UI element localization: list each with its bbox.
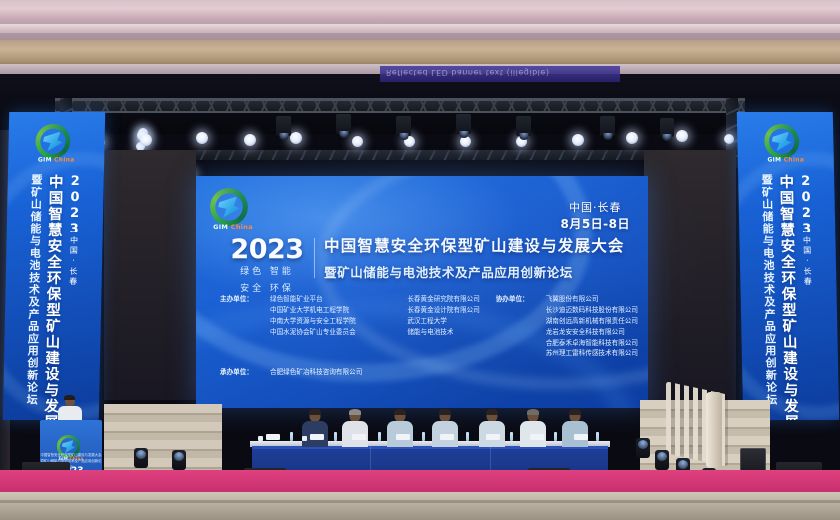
screen-year-block: 2023 绿色 智能 安全 环保 <box>226 236 308 296</box>
water-bottle <box>378 432 381 441</box>
side-banner-right: GIM China 2023 中国·长春 中国智慧安全环保型矿山建设与发展大会 … <box>737 112 839 420</box>
stage-side-wall-left <box>104 150 196 400</box>
water-bottle <box>554 432 557 441</box>
organizer-label: 主办单位： <box>220 294 270 359</box>
screen-organizer-block: 主办单位： 绿色智能矿业平台 中国矿业大学机电工程学院 中南大学资源与安全工程学… <box>220 294 638 378</box>
gim-logo-main: GIM <box>213 223 228 231</box>
organizer-columns: 主办单位： 绿色智能矿业平台 中国矿业大学机电工程学院 中南大学资源与安全工程学… <box>220 294 638 359</box>
moving-head-light <box>600 116 615 136</box>
panel-member <box>518 410 548 448</box>
stage-lamp <box>572 134 584 146</box>
lighting-truss-main <box>55 98 745 113</box>
floor-moving-head-light <box>172 450 186 470</box>
water-bottle <box>466 432 469 441</box>
table-cup <box>258 436 263 441</box>
banner-location-right: 中国·长春 <box>801 236 813 287</box>
table-nameplate <box>440 434 454 440</box>
co-organizer-list: 飞翼股份有限公司 长沙迪迈数码科技股份有限公司 湖南创远高新机械有限责任公司 龙… <box>546 294 638 359</box>
floor-moving-head-light <box>636 438 650 458</box>
stage-side-wall-right <box>644 150 736 400</box>
organizer-item: 中南大学资源与安全工程学院 <box>270 316 356 327</box>
panel-member-hair <box>569 409 581 415</box>
panel-member <box>430 410 460 448</box>
organizer-item: 长春黄金研究院有限公司 <box>407 294 495 305</box>
banner-year-right: 2023 <box>798 174 814 232</box>
main-led-screen: GIM China 中国·长春 8月5日-8日 2023 绿色 智能 安全 环保… <box>196 176 648 408</box>
gim-logo-icon: GIM China <box>35 124 78 166</box>
gim-logo-sub: China <box>231 223 253 231</box>
stage-lamp <box>140 134 152 146</box>
panel-member <box>477 410 507 448</box>
screen-location: 中国·长春 <box>560 200 630 216</box>
stage-lamp <box>244 134 256 146</box>
organizer-group: 主办单位： 绿色智能矿业平台 中国矿业大学机电工程学院 中南大学资源与安全工程学… <box>220 294 407 359</box>
gim-logo-text: GIM China <box>35 156 77 163</box>
table-nameplate <box>396 434 410 440</box>
co-organizer-item: 湖南创远高新机械有限责任公司 <box>546 316 638 327</box>
stage-lamp <box>290 132 302 144</box>
organizer-item: 储能与电池技术 <box>407 327 495 338</box>
stage-lamp <box>196 132 208 144</box>
organizer-list-col1: 绿色智能矿业平台 中国矿业大学机电工程学院 中南大学资源与安全工程学院 中国水泥… <box>270 294 356 359</box>
moving-head-light <box>456 114 471 134</box>
organizer-list-col2: 长春黄金研究院有限公司 长春黄金设计院有限公司 武汉工程大学 储能与电池技术 <box>407 294 495 359</box>
organizer-item: 绿色智能矿业平台 <box>270 294 356 305</box>
stage-lamp <box>724 134 734 144</box>
screen-title-block: 中国智慧安全环保型矿山建设与发展大会 暨矿山储能与电池技术及产品应用创新论坛 <box>324 234 640 281</box>
overhead-led-text: Reflected LED banner text (illegible) <box>386 68 549 77</box>
table-nameplate <box>486 434 500 440</box>
co-organizer-item: 合肥泰禾卓海智能科技有限公司 <box>546 338 638 349</box>
moving-head-light <box>276 116 291 136</box>
host-organizer-row: 承办单位： 合肥绿色矿冶科技咨询有限公司 <box>220 367 638 378</box>
moving-head-light <box>336 114 351 134</box>
table-nameplate <box>266 434 280 440</box>
screen-location-block: 中国·长春 8月5日-8日 <box>560 200 630 233</box>
water-bottle <box>334 432 337 441</box>
banner-vertical-text-right: 2023 中国·长春 中国智慧安全环保型矿山建设与发展大会 暨矿山储能与电池技术… <box>738 174 839 420</box>
stage-lamp <box>676 130 688 142</box>
co-organizer-item: 长沙迪迈数码科技股份有限公司 <box>546 305 638 316</box>
stone-newel-post <box>706 392 722 468</box>
moving-head-light <box>516 116 531 136</box>
screen-dates: 8月5日-8日 <box>560 216 630 233</box>
host-organizer-value: 合肥绿色矿冶科技咨询有限公司 <box>270 367 362 378</box>
table-nameplate <box>574 434 588 440</box>
organizer-item: 中国水泥协会矿山专业委员会 <box>270 327 356 338</box>
table-nameplate <box>310 434 324 440</box>
panel-member-hair <box>439 409 451 415</box>
panel-member <box>385 410 415 448</box>
water-bottle <box>290 432 293 441</box>
screen-slogan-1: 绿色 智能 <box>226 266 308 280</box>
table-nameplate <box>530 434 544 440</box>
screen-title-sub: 暨矿山储能与电池技术及产品应用创新论坛 <box>324 262 640 281</box>
moving-head-light <box>396 116 411 136</box>
water-bottle <box>596 432 599 441</box>
floor-moving-head-light <box>655 450 669 470</box>
panel-member-hair <box>309 409 321 415</box>
gim-logo-main: GIM <box>38 156 52 163</box>
co-organizer-label: 协办单位： <box>496 294 546 359</box>
organizer-item: 长春黄金设计院有限公司 <box>407 305 495 316</box>
water-bottle <box>510 432 513 441</box>
banner-year-left: 2023 <box>67 174 83 232</box>
panel-member <box>300 410 330 448</box>
moving-head-light <box>660 118 674 137</box>
gim-logo-text: GIM China <box>210 223 256 231</box>
floor-moving-head-light <box>134 448 148 468</box>
screen-year: 2023 <box>226 236 308 263</box>
panel-member-hair <box>394 409 406 415</box>
stage-lamp <box>352 136 363 147</box>
banner-location-left: 中国·长春 <box>68 236 80 287</box>
co-organizer-group: 协办单位： 飞翼股份有限公司 长沙迪迈数码科技股份有限公司 湖南创远高新机械有限… <box>496 294 638 359</box>
gim-logo-icon: GIM China <box>764 124 807 166</box>
screen-divider <box>314 238 315 278</box>
stage-stairs-left <box>104 404 222 470</box>
ceiling-light-band <box>0 24 840 33</box>
lighting-truss-lower <box>190 150 660 160</box>
co-organizer-item: 苏州理工雷科传感技术有限公司 <box>546 348 638 359</box>
table-nameplate <box>352 434 366 440</box>
co-organizer-item: 龙岩龙安安全科技有限公司 <box>546 327 638 338</box>
table-cup <box>302 436 307 441</box>
banner-vertical-text-left: 2023 中国·长春 中国智慧安全环保型矿山建设与发展大会 暨矿山储能与电池技术… <box>3 174 104 420</box>
stage-apron-edge <box>0 492 840 520</box>
panel-member-hair <box>486 409 498 415</box>
panel-member-hair <box>527 409 539 415</box>
speaker-hair <box>64 395 75 400</box>
panel-member <box>560 410 590 448</box>
ceiling-wood-beam <box>0 40 840 66</box>
overhead-led-strip: Reflected LED banner text (illegible) <box>380 66 620 82</box>
stage-apron-shadow-line <box>0 500 840 503</box>
conference-stage-photo: Reflected LED banner text (illegible) GI… <box>0 0 840 520</box>
water-bottle <box>422 432 425 441</box>
organizer-item: 中国矿业大学机电工程学院 <box>270 305 356 316</box>
gim-logo-sub: China <box>54 156 75 163</box>
stage-lamp <box>626 132 638 144</box>
gim-logo-text: GIM China <box>765 156 807 163</box>
side-banner-left: GIM China 2023 中国·长春 中国智慧安全环保型矿山建设与发展大会 … <box>3 112 105 420</box>
host-organizer-label: 承办单位： <box>220 367 270 378</box>
panel-member-hair <box>349 409 361 415</box>
gim-logo-icon: GIM China <box>210 188 256 234</box>
gim-logo-sub: China <box>784 156 805 163</box>
co-organizer-item: 飞翼股份有限公司 <box>546 294 638 305</box>
organizer-item: 武汉工程大学 <box>407 316 495 327</box>
gim-logo-main: GIM <box>767 156 781 163</box>
screen-title-main: 中国智慧安全环保型矿山建设与发展大会 <box>324 234 640 256</box>
panel-member <box>340 410 370 448</box>
